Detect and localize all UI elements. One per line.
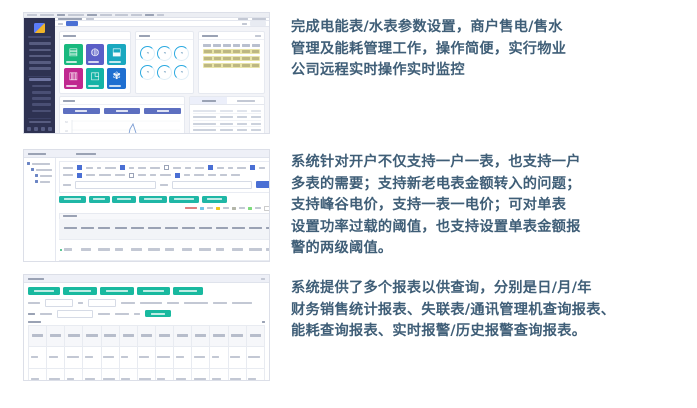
table-cell [147,239,164,260]
table-cell [246,368,264,381]
folder-icon [27,162,30,165]
table-cell [83,368,101,381]
toolbar-button-5[interactable] [169,196,199,203]
sidebar-subitem-4[interactable] [32,103,51,106]
table-cell [114,260,131,262]
table-cell [228,368,246,381]
column-header[interactable] [130,219,147,240]
description-paragraph-2: 系统针对开户不仅支持一户一表，也支持一户 多表的需要；支持新老电表金额转入的问题… [291,152,691,260]
table-row[interactable] [29,347,265,369]
table-cell [181,239,198,260]
table-row[interactable] [203,63,260,69]
column-header[interactable] [114,219,131,240]
chart-filter-2[interactable] [104,108,141,114]
column-header[interactable] [228,325,246,347]
checkbox[interactable] [120,165,125,170]
gauge-grid: ◔ ◔ ◔ ◔ ◔ ◔ [136,40,193,86]
tab-active[interactable] [66,21,78,26]
tile-water-meter[interactable]: ◍ [86,44,105,65]
status-dot-icon [60,249,63,252]
tile-meter[interactable]: ▤ [64,44,83,65]
chart-filter-row[interactable] [63,108,181,114]
report-button-offline[interactable] [137,287,170,295]
search-input-2[interactable] [172,181,253,189]
table-cell [248,239,265,260]
sidebar-item-7[interactable] [29,121,51,124]
trend-chart-card-header [60,97,184,105]
legend-swatch-green [248,207,252,210]
table-cell [137,368,155,381]
sidebar-item-1[interactable] [29,42,51,45]
quick-entry-card: ▤ ◍ ⬓ ▥ [59,31,131,94]
filter-row-1[interactable] [28,299,265,307]
legend-swatch-white [264,206,270,211]
ranking-table [190,105,264,134]
quick-entry-card-header [60,32,130,40]
table-cell [210,347,228,369]
table-cell [181,260,198,262]
ranking-table-card [189,96,265,134]
tree-node-root[interactable] [27,162,52,165]
column-header[interactable] [181,219,198,240]
column-header[interactable] [215,219,232,240]
filter-row-2[interactable] [63,173,270,178]
tile-settings[interactable]: ✾ [107,68,126,89]
tree-node-child-3[interactable] [35,180,52,183]
legend-swatch-cyan [200,207,204,210]
gauge-ring-icon: ◔ [157,46,172,61]
meter-icon: ▤ [69,48,78,58]
legend-swatch-grey [232,207,236,210]
column-header[interactable] [147,219,164,240]
ranking-tabs[interactable] [190,97,264,105]
trend-chart-card: 6040 205 000204 060810 121416 182022 [59,96,185,134]
svg-text:40: 40 [65,129,68,133]
column-header[interactable] [174,325,192,347]
table-cell [65,368,83,381]
table-cell [114,239,131,260]
sidebar-subitem-2[interactable] [32,91,51,94]
gauge-2: ◔ [157,45,172,62]
table-cell [147,260,164,262]
table-cell [29,368,47,381]
table-cell [164,239,181,260]
column-header[interactable] [246,325,264,347]
tree-node-child-2[interactable] [35,174,52,177]
sidebar-divider-2 [28,118,51,119]
table-cell [101,368,119,381]
chart-line-blue [73,124,169,134]
folder-icon [35,180,38,183]
table-cell [137,347,155,369]
gauge-1: ◔ [140,45,155,62]
filter-panel[interactable] [59,161,270,193]
tab-ranking-a[interactable] [190,97,227,105]
quick-entry-tiles[interactable]: ▤ ◍ ⬓ ▥ [60,40,130,93]
table-row[interactable] [59,239,270,260]
sidebar-item-2[interactable] [29,49,51,52]
table-caption-bar [28,321,265,323]
alarm-table-header-row [203,44,260,47]
footer-icon-4[interactable] [48,127,52,131]
description-paragraph-1: 完成电能表/水表参数设置，商户售电/售水 管理及能耗管理工作，操作简便，实行物业… [291,17,691,82]
column-header[interactable] [97,219,114,240]
column-header[interactable] [192,325,210,347]
gauge-5: ◔ [157,64,172,81]
tile-label [88,85,99,87]
alarm-table-card [198,31,265,94]
report-table[interactable] [28,325,265,382]
status-legend [59,206,270,211]
tile-label [66,61,77,63]
slide-page: ▤ ◍ ⬓ ▥ [0,0,697,408]
table-cell [83,347,101,369]
checkbox[interactable] [129,173,134,178]
toolbar-button-6[interactable] [202,196,227,203]
column-header[interactable] [47,325,65,347]
table-cell [198,260,215,262]
table-cell [80,239,97,260]
tile-label [109,85,120,87]
tab-refresh-button[interactable] [250,21,266,26]
sidebar-subitem-5[interactable] [32,110,51,113]
tile-edit-report[interactable]: ◳ [86,68,105,89]
table-cell [29,347,47,369]
column-header[interactable] [65,325,83,347]
filter-row-1[interactable] [63,165,270,170]
column-header[interactable] [137,325,155,347]
table-cell [97,260,114,262]
table-cell [174,368,192,381]
table-cell [47,347,65,369]
trend-chart-body: 6040 205 000204 060810 121416 182022 [60,105,184,134]
footer-icon-3[interactable] [41,127,45,131]
report-type-toolbar[interactable] [28,287,265,295]
table-row[interactable] [203,56,260,62]
table-cell [198,239,215,260]
page-header [24,150,269,158]
filter-input-1[interactable] [45,299,73,307]
filter-input-3[interactable] [57,310,93,318]
table-cell [174,347,192,369]
table-cell [97,239,114,260]
screenshot-report-query[interactable] [23,274,270,381]
report-button-yearly[interactable] [100,287,134,295]
sidebar-item-5[interactable] [29,67,51,70]
column-header[interactable] [63,219,80,240]
table-cell [265,239,270,260]
folder-icon [31,168,34,171]
report-button-monthly[interactable] [63,287,97,295]
sidebar-subitem-1[interactable] [32,85,51,88]
alarm-table [199,40,264,74]
screenshot-meter-accounts[interactable] [23,149,270,262]
table-row[interactable] [59,260,270,262]
report-button-export[interactable] [173,287,203,295]
org-tree-panel[interactable] [24,158,56,262]
toolbar-button-2[interactable] [89,196,110,203]
gauge-6: ◔ [174,64,189,81]
column-header[interactable] [231,219,248,240]
column-header[interactable] [101,325,119,347]
tile-label [88,61,99,63]
sidebar-footer-icons[interactable] [24,127,55,134]
table-header-row [59,219,270,240]
checkbox[interactable] [250,165,255,170]
column-header[interactable] [155,325,173,347]
table-cell [130,239,147,260]
gauge-card-header [136,32,193,40]
column-header[interactable] [83,325,101,347]
report-button-daily[interactable] [28,287,60,295]
checkbox[interactable] [164,165,169,170]
column-header[interactable] [248,219,265,240]
table-cell [164,260,181,262]
table-cell [80,260,97,262]
screenshot-dashboard[interactable]: ▤ ◍ ⬓ ▥ [23,12,270,134]
app-logo-icon [34,23,45,33]
table-cell [63,239,80,260]
description-paragraph-3: 系统提供了多个报表以供查询，分别是日/月/年 财务销售统计报表、失联表/通讯管理… [291,278,691,343]
sidebar-subitem-3[interactable] [32,97,51,100]
tile-statistics[interactable]: ▥ [64,68,83,89]
column-header[interactable] [119,325,137,347]
table-cell [192,347,210,369]
tree-node-child-1[interactable] [31,168,52,171]
table-cell [155,368,173,381]
gauge-4: ◔ [140,64,155,81]
sidebar-divider [28,76,51,77]
checkbox[interactable] [77,165,82,170]
column-header[interactable] [198,219,215,240]
filter-row-2[interactable] [28,310,265,318]
search-button[interactable] [256,181,270,188]
table-cell [119,347,137,369]
table-cell [231,260,248,262]
gauge-ring-icon: ◔ [174,65,189,80]
table-cell [65,347,83,369]
sidebar-user-pill [28,36,51,39]
tile-device[interactable]: ⬓ [107,44,126,65]
toolbar-button-3[interactable] [112,196,136,203]
column-header[interactable] [80,219,97,240]
column-header[interactable] [265,219,270,240]
folder-icon [35,174,38,177]
toolbar-button-1[interactable] [59,196,86,203]
table-cell [155,347,173,369]
footer-icon-1[interactable] [27,127,31,131]
statistics-icon: ▥ [69,72,78,82]
checkbox[interactable] [208,165,213,170]
gauge-ring-icon: ◔ [140,65,155,80]
device-icon: ⬓ [112,48,121,58]
search-input-1[interactable] [75,181,156,189]
table-cell [231,239,248,260]
table-cell [228,347,246,369]
gauge-ring-icon: ◔ [157,65,172,80]
water-meter-icon: ◍ [91,48,100,58]
footer-icon-2[interactable] [34,127,38,131]
table-row[interactable] [29,368,265,381]
edit-report-icon: ◳ [90,72,99,82]
legend-swatch-yellow [216,207,220,210]
table-cell [130,260,147,262]
sidebar-item-3[interactable] [29,55,51,58]
table-cell [215,239,232,260]
query-button[interactable] [145,310,171,317]
gauge-card: ◔ ◔ ◔ ◔ ◔ ◔ [135,31,194,94]
energy-line-chart: 6040 205 000204 060810 121416 182022 [63,117,181,134]
chart-filter-3[interactable] [144,108,181,114]
dashboard-sidebar[interactable] [24,18,55,134]
svg-text:60: 60 [65,120,68,124]
table-cell [47,368,65,381]
table-cell [119,368,137,381]
checkbox[interactable] [175,173,180,178]
sidebar-item-6-active[interactable] [29,78,51,81]
table-row[interactable] [203,49,260,55]
table-cell [210,368,228,381]
search-row[interactable] [63,181,270,189]
alarm-table-card-header [199,32,264,40]
toolbar-button-4[interactable] [139,196,167,203]
table-cell [246,347,264,369]
column-header[interactable] [29,325,47,347]
table-toolbar[interactable] [59,196,270,203]
tab-ranking-b[interactable] [227,97,264,105]
checkbox[interactable] [77,173,82,178]
tile-label [109,61,120,63]
page-header [24,275,269,283]
table-cell [215,260,232,262]
table-header-row [29,325,265,347]
table-cell [101,347,119,369]
table-cell [63,260,80,262]
table-cell [248,260,265,262]
gauge-3: ◔ [174,45,189,62]
tile-label [66,85,77,87]
column-header[interactable] [164,219,181,240]
sidebar-item-4[interactable] [29,61,51,64]
meter-accounts-table[interactable] [59,219,270,263]
gauge-ring-icon: ◔ [174,46,189,61]
gear-icon: ✾ [113,72,121,82]
column-header[interactable] [210,325,228,347]
table-cell [265,260,270,262]
table-cell [192,368,210,381]
chart-filter-1[interactable] [63,108,100,114]
gauge-ring-icon: ◔ [140,46,155,61]
filter-input-2[interactable] [88,299,116,307]
